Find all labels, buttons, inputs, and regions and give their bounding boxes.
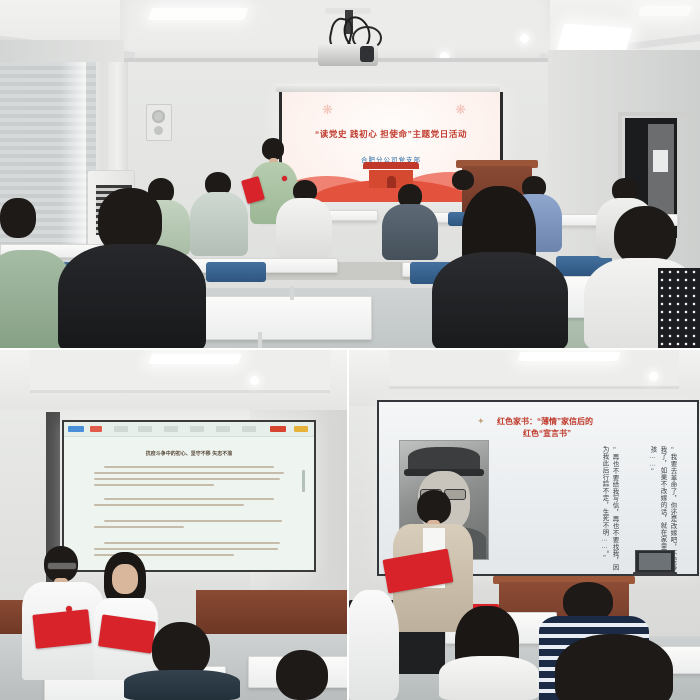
document-text-line xyxy=(104,520,282,522)
laptop-icon xyxy=(635,550,675,578)
photo-collage: ❋ ❋ “读党史 践初心 担使命”主题党日活动 合肥分公司党支部 xyxy=(0,0,700,700)
help-icon[interactable] xyxy=(242,426,256,432)
document-text-line xyxy=(94,472,284,474)
torso xyxy=(124,670,240,700)
torso xyxy=(382,204,438,260)
desk-leg xyxy=(258,332,262,348)
ceiling-light-panel xyxy=(638,6,692,16)
insert-icon[interactable] xyxy=(164,426,178,432)
document-text-line xyxy=(94,504,244,506)
slide-title: 红色家书：“薄情”家信后的 红色“宣言书” xyxy=(497,416,687,440)
projection-screen-roller xyxy=(276,84,500,92)
panel-divider-horizontal xyxy=(0,348,700,350)
window-glare xyxy=(60,62,86,252)
document-heading: 抗疫斗争中的初心、坚守不移 矢志不渝 xyxy=(64,450,314,457)
head xyxy=(417,490,451,524)
document-text-line xyxy=(104,542,280,544)
slide-ornament-icon: ❋ xyxy=(455,102,464,118)
torso xyxy=(432,252,568,348)
torso xyxy=(58,244,206,348)
slide-title-line2: 红色“宣言书” xyxy=(497,428,687,440)
room-background: 抗疫斗争中的初心、坚守不移 矢志不渝 xyxy=(0,350,347,700)
panel-meeting-room-wide: ❋ ❋ “读党史 践初心 担使命”主题党日活动 合肥分公司党支部 xyxy=(0,0,700,348)
view-icon[interactable] xyxy=(138,426,152,432)
head xyxy=(452,170,474,190)
menu-icon[interactable] xyxy=(68,426,84,432)
head xyxy=(555,634,673,700)
projection-screen: 抗疫斗争中的初心、坚守不移 矢志不渝 xyxy=(62,420,316,572)
slide-ornament-icon: ✦ xyxy=(477,416,485,427)
letter-text-column-1: “再也不要给我写信，再也不要找我，因为我此后行踪不定，生死不明……。” xyxy=(575,446,619,574)
downlight xyxy=(250,376,259,385)
document-text-line xyxy=(104,466,274,468)
document-text-line xyxy=(104,498,274,500)
wooden-wall-panel xyxy=(196,590,347,634)
panel-presenter-podium: ✦ 红色家书：“薄情”家信后的 红色“宣言书” “再也不要给我 xyxy=(349,350,700,700)
document-text-line xyxy=(94,548,278,550)
head xyxy=(0,198,36,238)
head xyxy=(262,138,284,160)
account-icon[interactable] xyxy=(294,426,308,432)
ceiling-light-panel xyxy=(148,8,249,20)
red-folder xyxy=(32,609,91,649)
face xyxy=(112,564,138,594)
head xyxy=(276,650,328,700)
room-background: ✦ 红色家书：“薄情”家信后的 红色“宣言书” “再也不要给我 xyxy=(349,350,700,700)
downlight xyxy=(649,372,658,381)
wall-speaker-icon xyxy=(146,104,172,141)
format-icon[interactable] xyxy=(190,426,204,432)
edit-icon[interactable] xyxy=(114,426,128,432)
tools-icon[interactable] xyxy=(216,426,230,432)
torso xyxy=(439,656,539,700)
ceiling-light-panel xyxy=(518,352,621,361)
desk xyxy=(190,296,372,340)
file-icon[interactable] xyxy=(90,426,102,432)
panel-divider-vertical xyxy=(347,350,349,700)
document-text-line xyxy=(94,526,184,528)
projector-lens xyxy=(360,46,374,62)
ceiling xyxy=(0,350,347,416)
panel-two-presenters: 抗疫斗争中的初心、坚守不移 矢志不渝 xyxy=(0,350,347,700)
ceiling-light-panel xyxy=(148,354,242,364)
glasses-icon xyxy=(47,562,77,570)
slide-title: “读党史 践初心 担使命”主题党日活动 xyxy=(282,128,500,140)
chair xyxy=(206,262,266,282)
slide-title-line1: 红色家书：“薄情”家信后的 xyxy=(497,417,593,426)
torso xyxy=(190,192,248,256)
slide-ornament-icon: ❋ xyxy=(322,102,331,118)
head xyxy=(614,206,676,266)
document-window: 抗疫斗争中的初心、坚守不移 矢志不渝 xyxy=(64,422,314,570)
downlight xyxy=(520,34,529,43)
desk-leg xyxy=(290,286,294,300)
polka-dot-dress xyxy=(658,268,700,348)
share-icon[interactable] xyxy=(270,426,286,432)
torso xyxy=(349,590,399,700)
room-background: ❋ ❋ “读党史 践初心 担使命”主题党日活动 合肥分公司党支部 xyxy=(0,0,700,348)
torso xyxy=(276,198,332,258)
party-badge-icon xyxy=(282,176,287,181)
document-text-line xyxy=(94,478,280,480)
document-toolbar[interactable] xyxy=(64,422,314,437)
document-text-line xyxy=(94,484,214,486)
scrollbar[interactable] xyxy=(302,470,305,492)
